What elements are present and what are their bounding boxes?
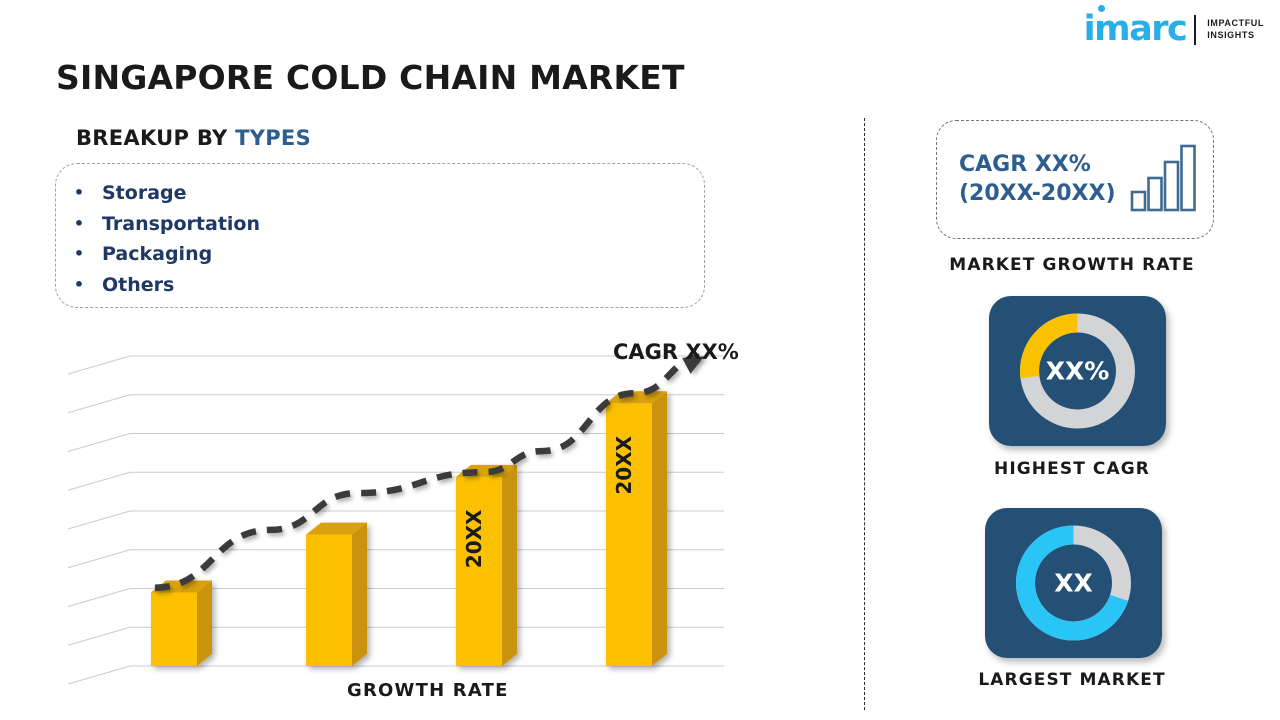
logo-tagline-line2: INSIGHTS: [1207, 30, 1264, 41]
largest-market-card: XX: [985, 508, 1162, 658]
list-item: • Storage: [56, 178, 704, 209]
bullet-icon: •: [56, 277, 102, 293]
breakup-types-list: • Storage • Transportation • Packaging •…: [56, 164, 704, 300]
subtitle-highlight: TYPES: [235, 126, 311, 150]
list-item: • Others: [56, 270, 704, 301]
bullet-icon: •: [56, 246, 102, 262]
logo-dot-icon: [1098, 5, 1105, 12]
cagr-line-2: (20XX-20XX): [959, 180, 1116, 208]
logo-tagline: IMPACTFUL INSIGHTS: [1207, 18, 1264, 41]
list-item: • Transportation: [56, 209, 704, 240]
chart-axis-label: GROWTH RATE: [347, 680, 509, 701]
icon-bar: [1182, 146, 1195, 210]
bar-front-face: [306, 535, 352, 666]
bar-side-face: [502, 465, 517, 666]
bar-side-face: [352, 523, 367, 666]
subtitle-prefix: BREAKUP BY: [76, 126, 235, 150]
logo-divider: [1194, 15, 1196, 45]
growth-bar-chart: 20XX20XX: [56, 330, 756, 720]
highest-cagr-card: XX%: [989, 296, 1166, 446]
logo-tagline-line1: IMPACTFUL: [1207, 18, 1264, 29]
largest-market-caption: LARGEST MARKET: [864, 670, 1280, 690]
bar-side-face: [652, 391, 667, 666]
imarc-logo: imarc IMPACTFUL INSIGHTS: [1084, 12, 1264, 47]
bar-front-face: [456, 477, 502, 666]
bar-label: 20XX: [462, 509, 486, 568]
page-subtitle: BREAKUP BY TYPES: [76, 126, 311, 150]
largest-market-value: XX: [985, 569, 1162, 598]
breakup-types-box: • Storage • Transportation • Packaging •…: [55, 163, 705, 308]
market-growth-rate-caption: MARKET GROWTH RATE: [864, 255, 1280, 275]
infographic-canvas: imarc IMPACTFUL INSIGHTS SINGAPORE COLD …: [0, 0, 1280, 720]
cagr-line-1: CAGR XX%: [959, 151, 1116, 179]
page-title: SINGAPORE COLD CHAIN MARKET: [56, 58, 685, 97]
bar: [306, 523, 367, 666]
chart-svg: 20XX20XX: [56, 330, 756, 720]
list-item-label: Packaging: [102, 243, 212, 265]
bullet-icon: •: [56, 216, 102, 232]
list-item-label: Storage: [102, 182, 187, 204]
bar: [151, 580, 212, 666]
highest-cagr-value: XX%: [989, 357, 1166, 386]
icon-bar: [1132, 192, 1145, 210]
icon-bar: [1165, 162, 1178, 210]
bullet-icon: •: [56, 185, 102, 201]
market-growth-rate-box: CAGR XX% (20XX-20XX): [936, 120, 1214, 239]
vertical-divider: [864, 118, 865, 710]
market-growth-rate-text: CAGR XX% (20XX-20XX): [959, 151, 1116, 207]
bar-front-face: [151, 592, 197, 666]
bar: [606, 391, 667, 666]
list-item-label: Others: [102, 274, 174, 296]
list-item: • Packaging: [56, 239, 704, 270]
logo-wordmark: imarc: [1084, 12, 1187, 47]
logo-wordmark-text: imarc: [1084, 9, 1187, 49]
chart-bars: 20XX20XX: [151, 391, 667, 666]
chart-cagr-annotation: CAGR XX%: [613, 340, 739, 364]
icon-bar: [1149, 178, 1162, 210]
bar-side-face: [197, 580, 212, 666]
bar-label: 20XX: [612, 435, 636, 494]
bar-chart-icon: [1129, 144, 1199, 214]
highest-cagr-caption: HIGHEST CAGR: [864, 459, 1280, 479]
list-item-label: Transportation: [102, 213, 260, 235]
